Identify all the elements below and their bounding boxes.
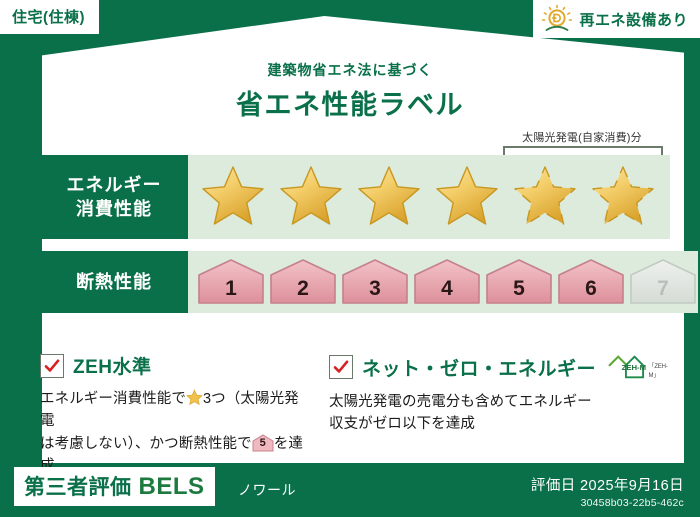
evaluation-date: 評価日 2025年9月16日 — [531, 474, 684, 495]
insulation-grade-number: 4 — [412, 277, 482, 301]
performance-rows: エネルギー 消費性能 太陽光発電(自家消費)分 断熱性能 1234567 — [40, 155, 670, 325]
zeh-standard-title: ZEH水準 — [73, 352, 152, 379]
energy-label-line1: エネルギー — [67, 173, 162, 197]
energy-label-line2: 消費性能 — [76, 197, 152, 221]
bels-logo-text: BELS — [139, 473, 205, 501]
net-zero-body-line1: 太陽光発電の売電分も含めてエネルギー — [329, 394, 592, 410]
insulation-grade-number: 5 — [484, 277, 554, 301]
insulation-grade-achieved: 1 — [196, 258, 266, 306]
insulation-grade-achieved: 2 — [268, 258, 338, 306]
evaluation-id: 30458b03-22b5-462c — [531, 497, 684, 509]
star-dashed — [506, 160, 584, 234]
inline-star-icon — [186, 389, 203, 406]
energy-performance-row: エネルギー 消費性能 太陽光発電(自家消費)分 — [40, 155, 670, 239]
net-zero-title: ネット・ゼロ・エネルギー — [362, 354, 596, 381]
building-type-label: 住宅(住棟) — [12, 9, 85, 26]
inline-grade-badge: 5 — [252, 434, 274, 452]
zeh-m-house-icon: ZEH-M — [607, 352, 647, 382]
insulation-grade-achieved: 3 — [340, 258, 410, 306]
star-icon — [350, 160, 428, 234]
energy-performance-label: エネルギー 消費性能 — [40, 155, 188, 239]
insulation-grade-number: 7 — [628, 277, 698, 301]
zeh-body-text-1: エネルギー消費性能で — [40, 391, 186, 407]
criteria-section: ZEH水準 エネルギー消費性能で3つ（太陽光発電 は考慮しない）、かつ断熱性能で… — [40, 352, 674, 478]
bels-certification-box: 第三者評価 BELS — [14, 467, 215, 506]
solar-bracket — [503, 146, 663, 155]
star-filled — [272, 160, 350, 234]
insulation-label-text: 断熱性能 — [76, 270, 152, 294]
star-dashed — [584, 160, 662, 234]
energy-performance-body: 太陽光発電(自家消費)分 — [188, 155, 670, 239]
label-footer: 第三者評価 BELS ノワール 評価日 2025年9月16日 30458b03-… — [0, 463, 700, 517]
star-icon — [272, 160, 350, 234]
zeh-standard-checkbox[interactable] — [40, 354, 64, 378]
energy-star-rating — [194, 160, 662, 234]
net-zero-header: ネット・ゼロ・エネルギー ZEH-M 「ZEH-M」 — [329, 352, 674, 382]
star-filled — [350, 160, 428, 234]
insulation-grade-number: 2 — [268, 277, 338, 301]
inline-grade-number: 5 — [252, 435, 274, 452]
star-filled — [428, 160, 506, 234]
third-party-eval-label: 第三者評価 — [24, 471, 132, 501]
net-zero-checkbox[interactable] — [329, 355, 353, 379]
net-zero-body-line2: 収支がゼロ以下を達成 — [329, 416, 475, 432]
zeh-body-text-3: は考慮しない）、かつ断熱性能で — [40, 436, 252, 452]
property-name: ノワール — [238, 480, 296, 500]
star-icon — [194, 160, 272, 234]
insulation-grade-number: 6 — [556, 277, 626, 301]
label-titles: 建築物省エネ法に基づく 省エネ性能ラベル — [0, 60, 700, 122]
criterion-net-zero-energy: ネット・ゼロ・エネルギー ZEH-M 「ZEH-M」 太陽光発電の売電分も含めて… — [329, 352, 674, 478]
insulation-grade-scale: 1234567 — [188, 251, 698, 313]
net-zero-body: 太陽光発電の売電分も含めてエネルギー 収支がゼロ以下を達成 — [329, 391, 674, 436]
building-type-tag: 住宅(住棟) — [0, 0, 99, 34]
insulation-grade-achieved: 4 — [412, 258, 482, 306]
criterion-zeh-standard: ZEH水準 エネルギー消費性能で3つ（太陽光発電 は考慮しない）、かつ断熱性能で… — [40, 352, 305, 478]
bels-energy-label: 住宅(住棟) 再エネ設備あり 建築物省エネ法に基づく 省エネ性能ラベル — [0, 0, 700, 517]
star-icon — [506, 160, 584, 234]
svg-text:ZEH-M: ZEH-M — [622, 363, 646, 372]
star-filled — [194, 160, 272, 234]
insulation-grade-achieved: 5 — [484, 258, 554, 306]
insulation-grade-number: 3 — [340, 277, 410, 301]
insulation-grade-achieved: 6 — [556, 258, 626, 306]
sun-renewable-icon — [541, 4, 573, 34]
evaluation-info: 評価日 2025年9月16日 30458b03-22b5-462c — [531, 474, 684, 509]
renewable-badge-label: 再エネ設備あり — [579, 9, 688, 30]
title-subtitle: 建築物省エネ法に基づく — [0, 60, 700, 80]
page-title: 省エネ性能ラベル — [0, 83, 700, 122]
star-icon — [584, 160, 662, 234]
insulation-grade-inactive: 7 — [628, 258, 698, 306]
zeh-m-logo: ZEH-M 「ZEH-M」 — [607, 352, 674, 382]
zeh-m-caption: 「ZEH-M」 — [649, 361, 674, 382]
check-icon — [44, 358, 60, 374]
insulation-performance-row: 断熱性能 1234567 — [40, 251, 670, 313]
star-icon — [428, 160, 506, 234]
check-icon — [333, 359, 349, 375]
zeh-standard-header: ZEH水準 — [40, 352, 305, 379]
solar-self-consumption-note: 太陽光発電(自家消費)分 — [498, 129, 666, 145]
insulation-performance-label: 断熱性能 — [40, 251, 188, 313]
insulation-grade-number: 1 — [196, 277, 266, 301]
renewable-equipment-badge: 再エネ設備あり — [533, 0, 700, 38]
